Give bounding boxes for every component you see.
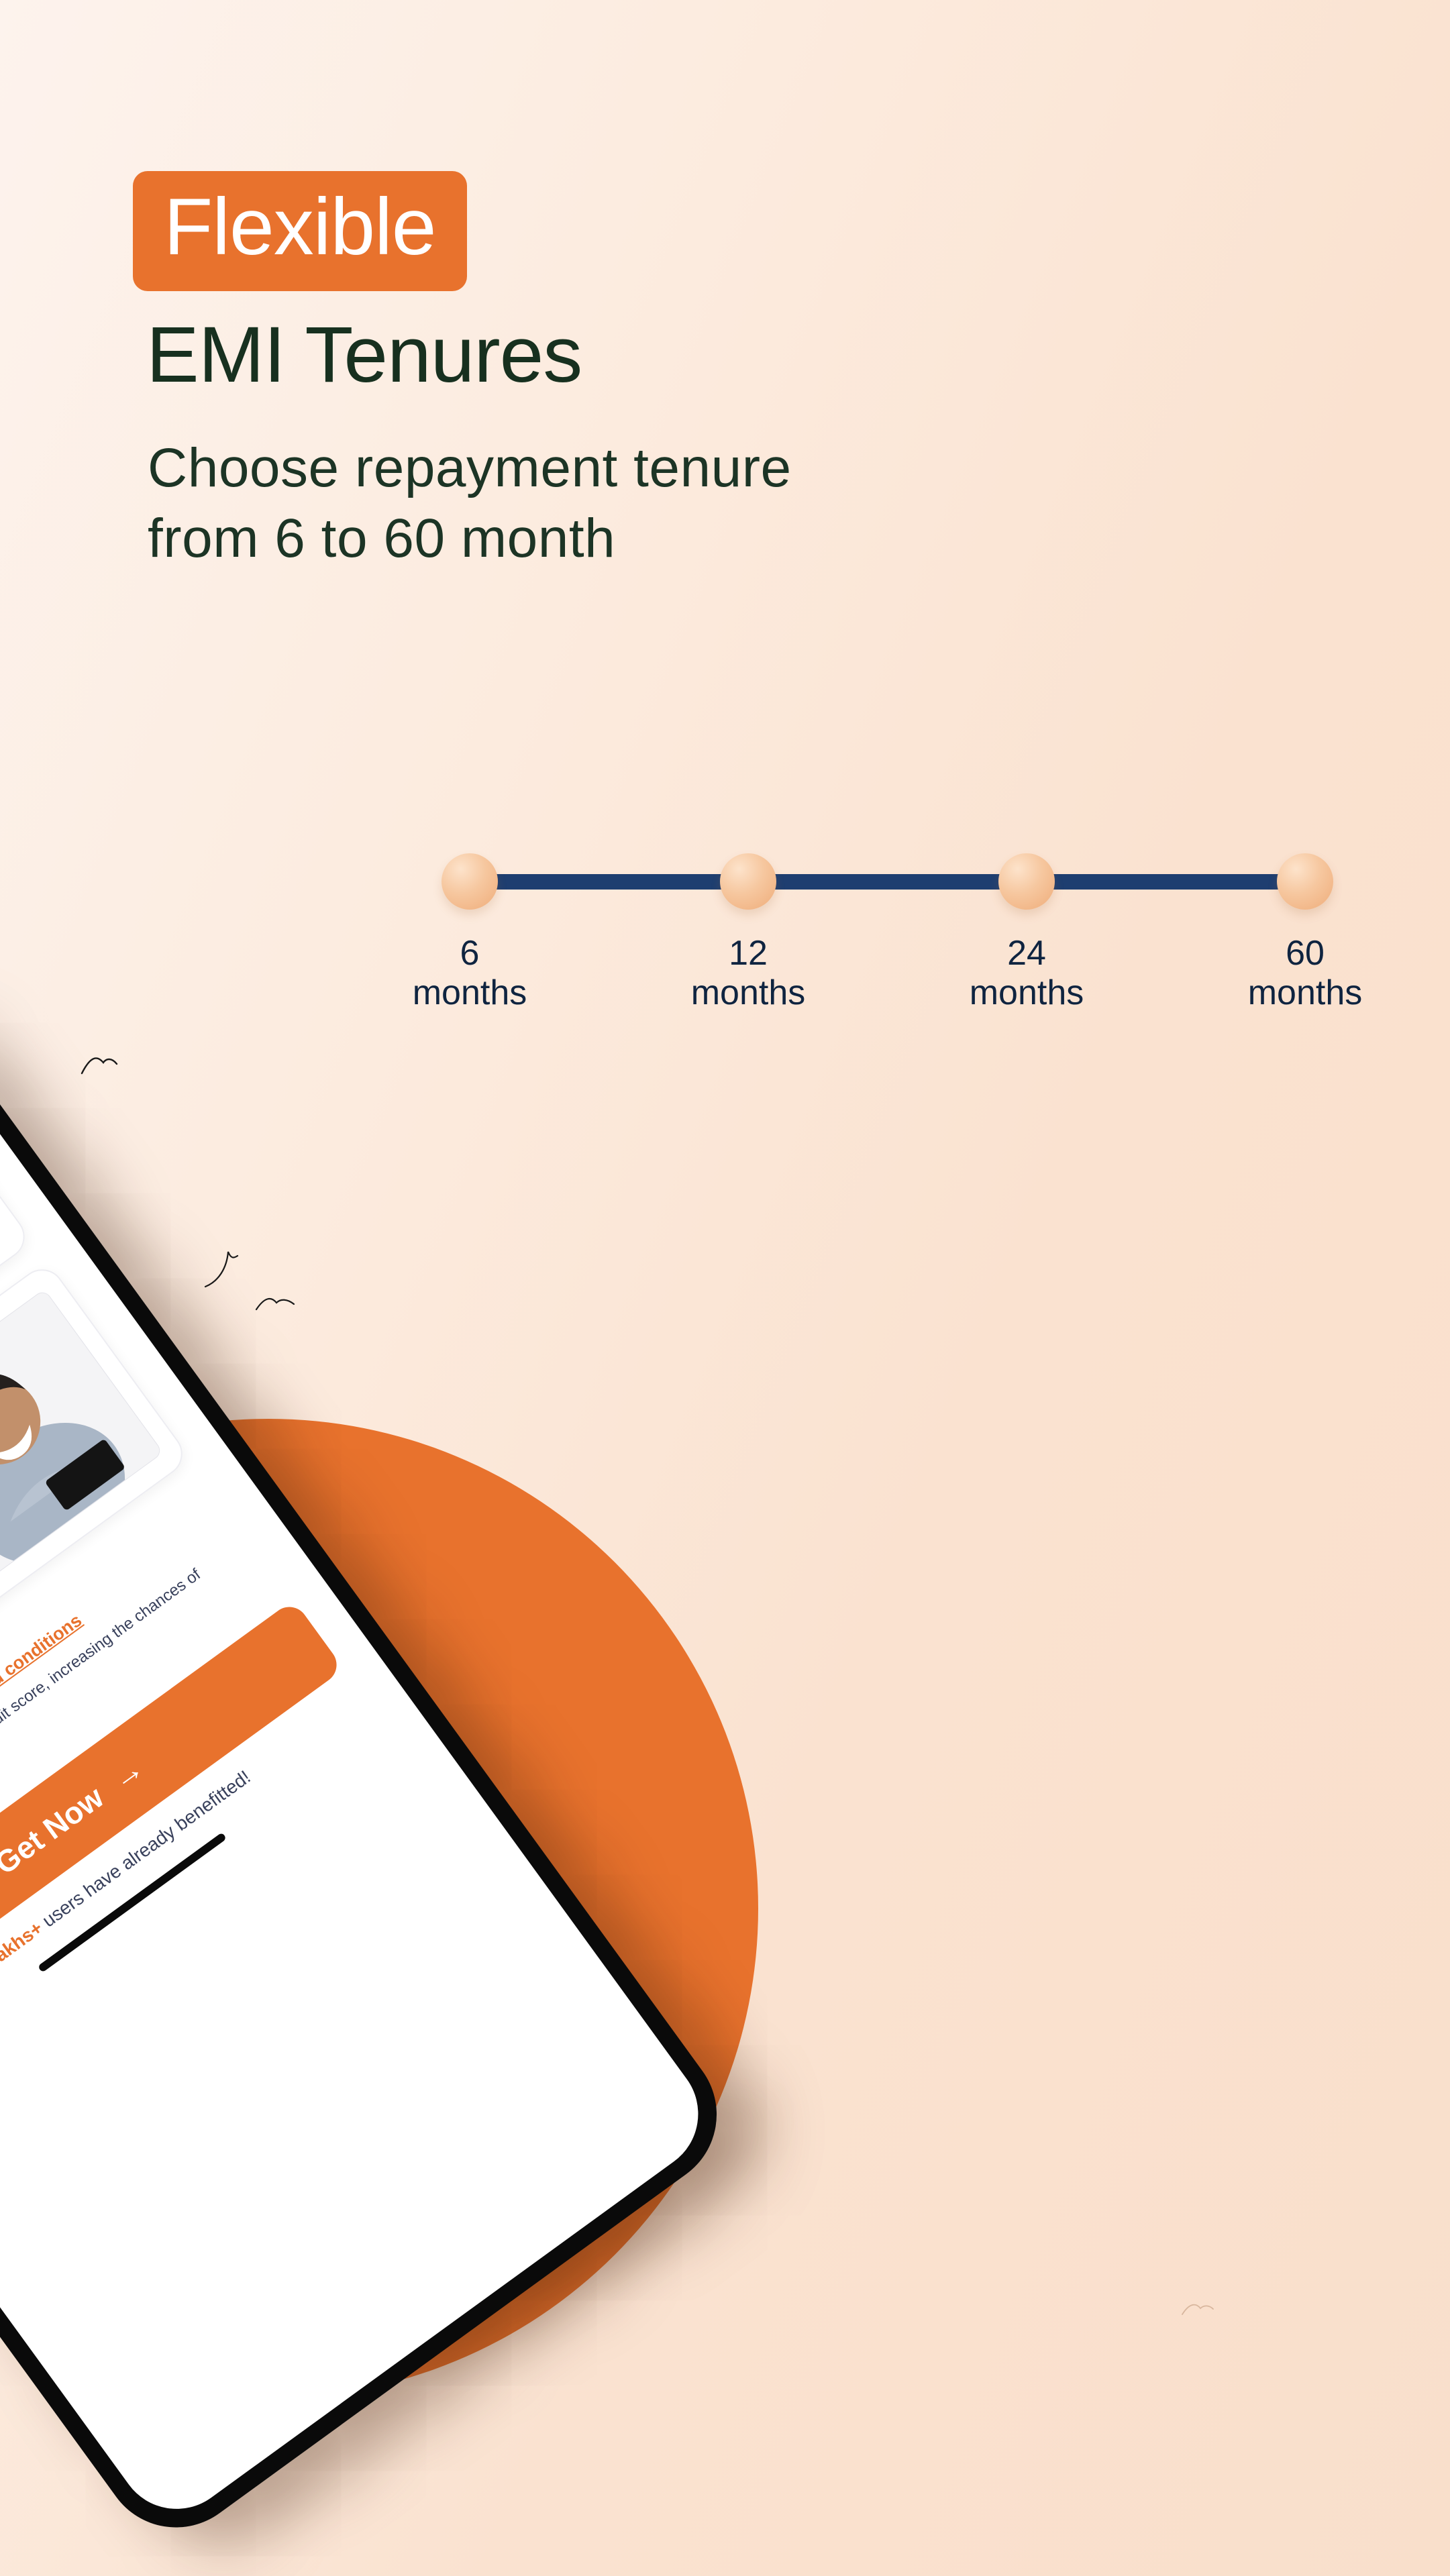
hero-subheading-line1: Choose repayment tenure [148, 433, 1274, 504]
tenure-dot[interactable] [1277, 853, 1333, 910]
testimonial-avatar [0, 1289, 164, 1587]
get-now-label: Get Now [0, 1779, 110, 1882]
tenure-unit: months [403, 973, 537, 1014]
tenure-value: 24 [960, 934, 1094, 973]
tenure-value: 6 [403, 934, 537, 973]
bird-icon [81, 1053, 121, 1080]
arrow-right-icon: → [104, 1750, 150, 1797]
tenure-stop-1[interactable]: 12 months [681, 825, 815, 1014]
tenure-unit: months [681, 973, 815, 1014]
tenure-timeline: 6 months 12 months 24 months 60 months [403, 825, 1376, 1093]
tenure-dot[interactable] [442, 853, 498, 910]
tenure-stop-0[interactable]: 6 months [403, 825, 537, 1014]
hero-text-block: Flexible EMI Tenures Choose repayment te… [133, 171, 1274, 574]
tenure-unit: months [1238, 973, 1372, 1014]
tenure-dot[interactable] [720, 853, 776, 910]
hero-subheading: Choose repayment tenure from 6 to 60 mon… [148, 433, 1274, 574]
tenure-stop-3[interactable]: 60 months [1238, 825, 1372, 1014]
page-title: EMI Tenures [146, 315, 1274, 394]
benefit-count: 3 Lakhs+ [0, 1917, 46, 1982]
bird-icon [1181, 2301, 1214, 2321]
tenure-value: 60 [1238, 934, 1372, 973]
get-now-button[interactable]: Get Now → [0, 1600, 344, 2032]
poster-canvas: Flexible EMI Tenures Choose repayment te… [0, 0, 1450, 2576]
tenure-unit: months [960, 973, 1094, 1014]
bird-icon [255, 1295, 297, 1318]
hero-subheading-line2: from 6 to 60 month [148, 504, 1274, 574]
bird-icon [201, 1248, 248, 1295]
timeline-track [470, 874, 1305, 890]
tenure-value: 12 [681, 934, 815, 973]
flexible-badge: Flexible [133, 171, 467, 291]
tenure-dot[interactable] [998, 853, 1055, 910]
tenure-stop-2[interactable]: 24 months [960, 825, 1094, 1014]
